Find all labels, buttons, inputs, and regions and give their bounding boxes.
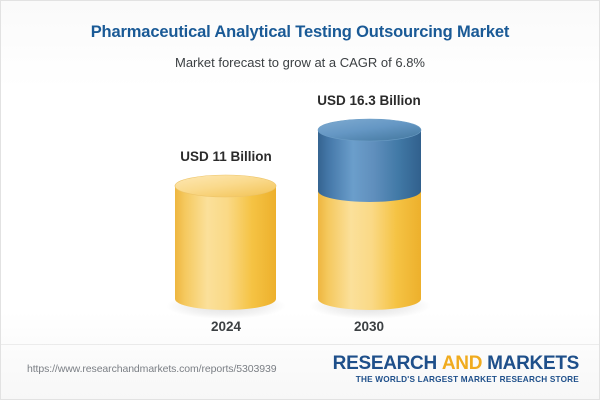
report-url[interactable]: https://www.researchandmarkets.com/repor… [27, 363, 276, 375]
bar-category-label-2030: 2030 [259, 319, 479, 334]
brand-wordmark: RESEARCHANDMARKETS [333, 354, 579, 373]
chart-footer: https://www.researchandmarkets.com/repor… [1, 344, 600, 399]
brand-logo[interactable]: RESEARCHANDMARKETS THE WORLD'S LARGEST M… [333, 354, 579, 384]
brand-word-research: RESEARCH [333, 353, 437, 374]
footer-divider [1, 344, 600, 345]
chart-plot-area: USD 11 Billion [1, 1, 600, 346]
brand-word-and: AND [442, 353, 482, 374]
brand-tagline: THE WORLD'S LARGEST MARKET RESEARCH STOR… [333, 376, 579, 384]
bar-cylinder-2030[interactable] [1, 1, 600, 346]
brand-word-markets: MARKETS [487, 353, 579, 374]
market-forecast-chart-card: Pharmaceutical Analytical Testing Outsou… [0, 0, 600, 400]
